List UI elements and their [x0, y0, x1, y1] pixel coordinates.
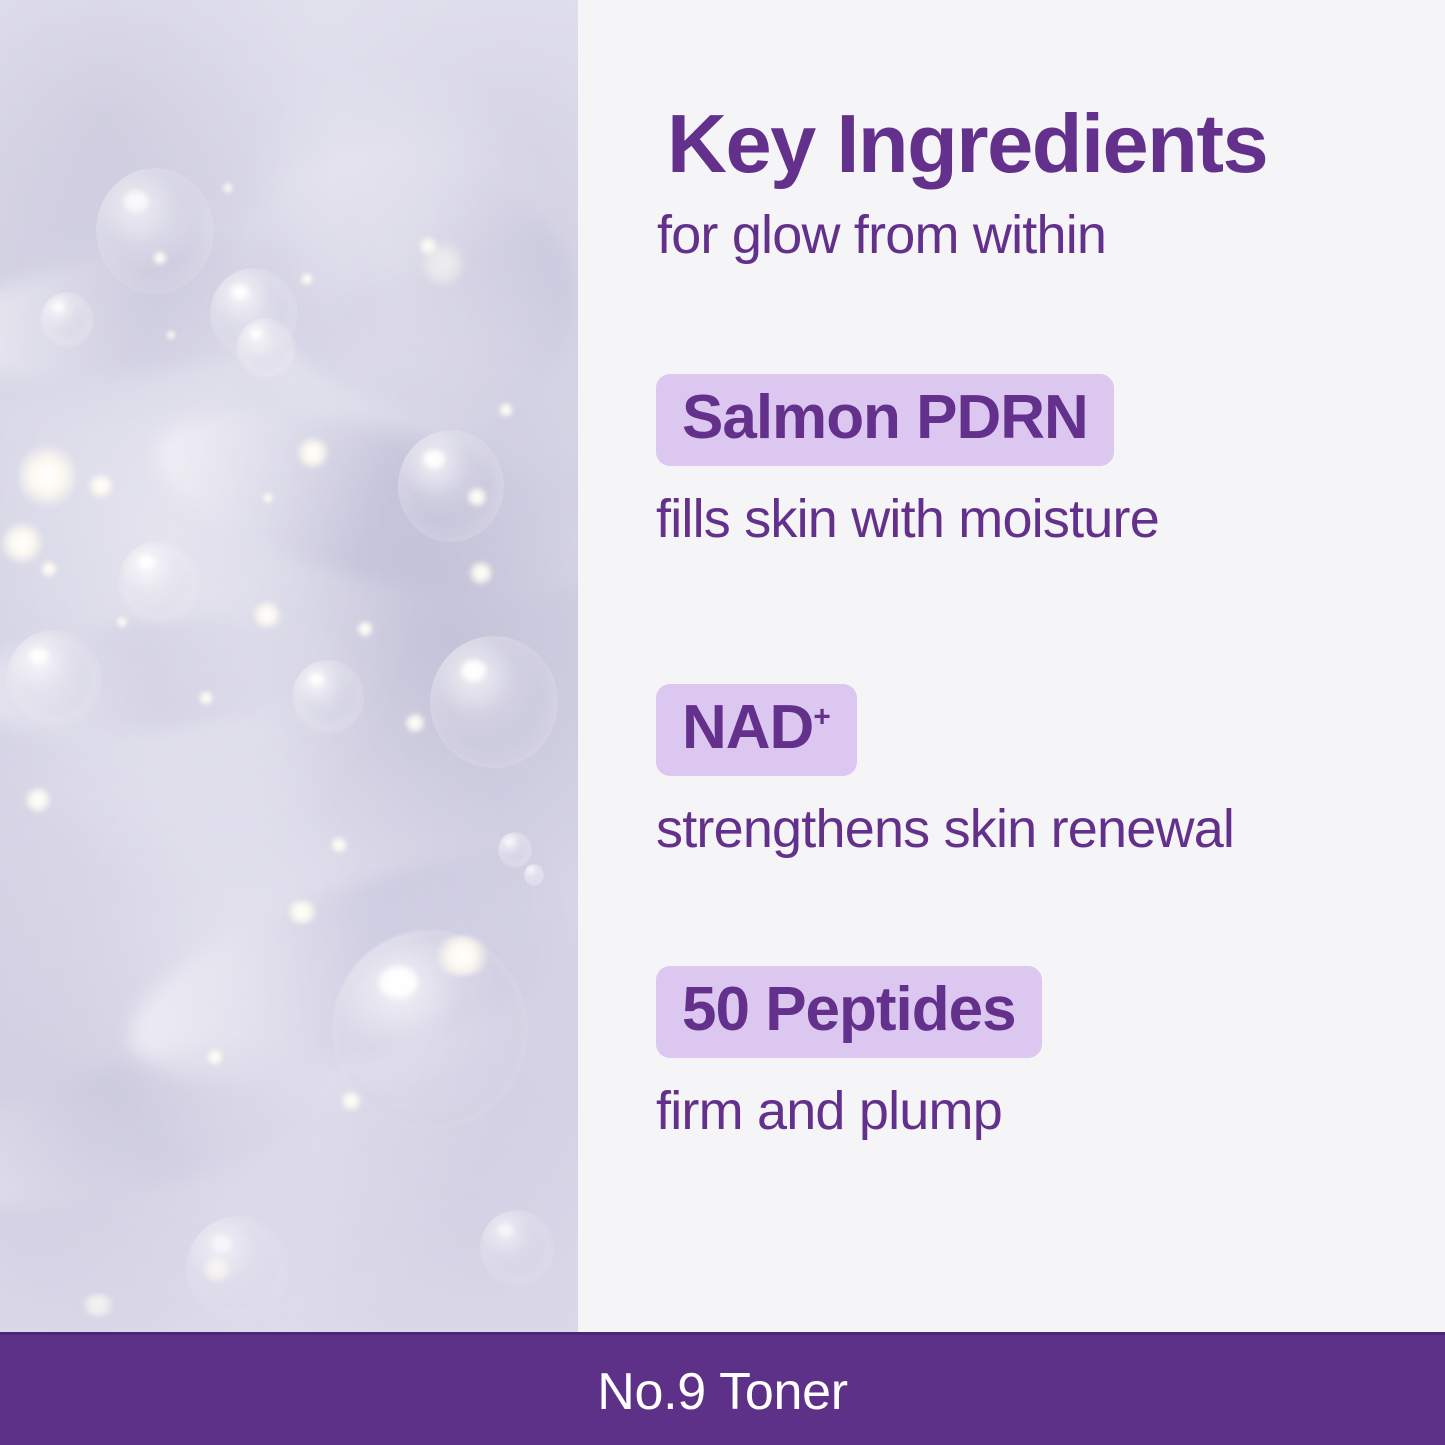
highlight-sparkle	[356, 620, 374, 638]
ingredient-badge-superscript: +	[813, 700, 830, 733]
ingredient-description: strengthens skin renewal	[656, 798, 1234, 860]
highlight-sparkle	[206, 1048, 224, 1066]
ingredient-badge: Salmon PDRN	[656, 374, 1114, 466]
bubble	[480, 1210, 554, 1286]
highlight-sparkle	[418, 236, 438, 256]
ingredient-texture-photo	[0, 0, 578, 1332]
ingredient-item-nad-plus: NAD+ strengthens skin renewal	[656, 684, 1234, 860]
highlight-sparkle	[200, 1256, 234, 1282]
bubble	[6, 630, 102, 730]
highlight-sparkle	[404, 712, 426, 734]
bubble	[398, 430, 504, 542]
bubble	[96, 168, 214, 294]
ingredient-item-salmon-pdrn: Salmon PDRN fills skin with moisture	[656, 374, 1159, 550]
product-name-bar: No.9 Toner	[0, 1332, 1445, 1445]
ingredient-item-50-peptides: 50 Peptides firm and plump	[656, 966, 1042, 1142]
ingredient-badge: NAD+	[656, 684, 857, 776]
ingredient-badge: 50 Peptides	[656, 966, 1042, 1058]
highlight-sparkle	[340, 1090, 362, 1112]
bubble	[498, 832, 532, 868]
highlight-sparkle	[152, 250, 168, 266]
bubble	[40, 292, 94, 348]
highlight-sparkle	[468, 560, 494, 586]
highlight-sparkle	[262, 492, 274, 504]
bubble	[524, 864, 544, 886]
highlight-sparkle	[330, 836, 348, 854]
bubble	[292, 660, 364, 734]
page-subtitle: for glow from within	[657, 204, 1106, 266]
highlight-sparkle	[466, 486, 488, 508]
highlight-sparkle	[0, 520, 44, 566]
bubble	[430, 636, 558, 768]
ingredient-badge-label: NAD	[682, 693, 813, 762]
content-panel: Key Ingredients for glow from within Sal…	[578, 0, 1445, 1332]
page-title: Key Ingredients	[667, 96, 1267, 192]
highlight-sparkle	[252, 600, 282, 630]
highlight-sparkle	[498, 402, 514, 418]
product-infographic: Key Ingredients for glow from within Sal…	[0, 0, 1445, 1445]
ingredient-badge-label: Salmon PDRN	[682, 383, 1088, 452]
highlight-sparkle	[300, 272, 314, 286]
highlight-sparkle	[24, 786, 52, 814]
highlight-sparkle	[222, 182, 234, 194]
bubble	[118, 540, 202, 626]
product-name-label: No.9 Toner	[597, 1362, 847, 1422]
highlight-sparkle	[88, 472, 114, 500]
highlight-sparkle	[166, 330, 176, 340]
highlight-sparkle	[198, 690, 214, 706]
ingredient-description: firm and plump	[656, 1080, 1042, 1142]
highlight-sparkle	[284, 900, 320, 924]
highlight-sparkle	[18, 440, 76, 512]
highlight-sparkle	[116, 616, 128, 628]
highlight-sparkle	[78, 1294, 118, 1316]
highlight-sparkle	[40, 560, 58, 578]
highlight-sparkle	[430, 936, 494, 976]
ingredient-description: fills skin with moisture	[656, 488, 1159, 550]
highlight-sparkle	[296, 436, 330, 470]
bubble	[236, 318, 296, 380]
ingredient-badge-label: 50 Peptides	[682, 975, 1016, 1044]
